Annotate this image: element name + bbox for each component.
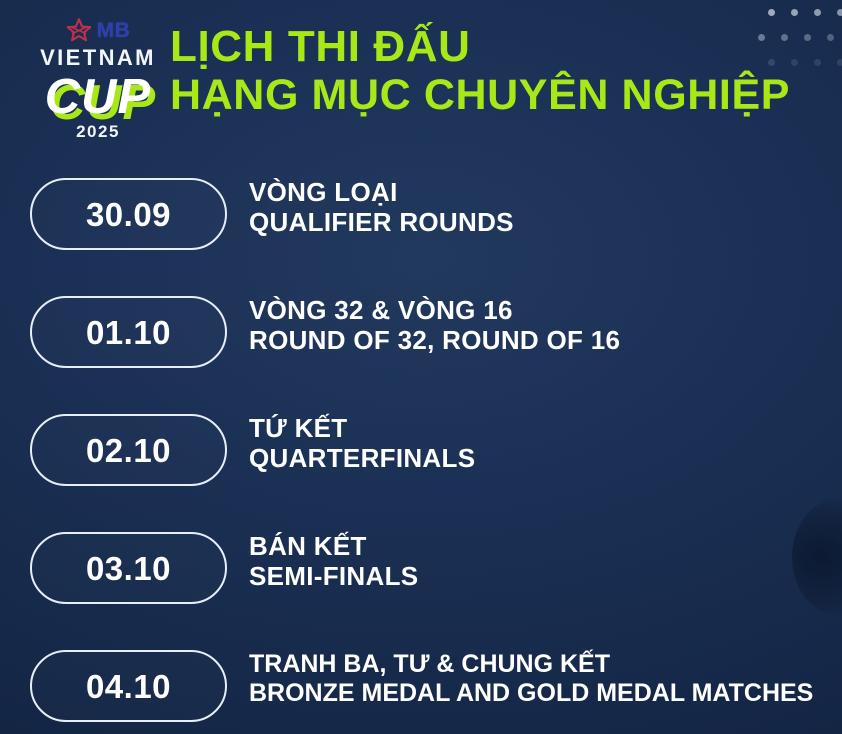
schedule-list: 30.09 VÒNG LOẠI QUALIFIER ROUNDS 01.10 V… <box>0 172 842 734</box>
schedule-row: 30.09 VÒNG LOẠI QUALIFIER ROUNDS <box>0 172 842 290</box>
date-badge-label: 30.09 <box>86 198 171 231</box>
date-badge: 04.10 <box>30 650 227 722</box>
decorative-dot <box>814 9 821 16</box>
logo-brand-row: MB <box>28 16 168 44</box>
stage-labels: TỨ KẾT QUARTERFINALS <box>249 414 829 473</box>
schedule-row: 03.10 BÁN KẾT SEMI-FINALS <box>0 526 842 644</box>
stage-label-en: ROUND OF 32, ROUND OF 16 <box>249 326 829 356</box>
page-title-line-1: LỊCH THI ĐẤU <box>170 22 830 71</box>
stage-labels: VÒNG LOẠI QUALIFIER ROUNDS <box>249 178 829 237</box>
date-badge-label: 04.10 <box>86 670 171 703</box>
decorative-dot <box>837 9 842 16</box>
decorative-dot <box>768 9 775 16</box>
decorative-dot <box>837 59 842 66</box>
schedule-row: 04.10 TRANH BA, TƯ & CHUNG KẾT BRONZE ME… <box>0 644 842 734</box>
decorative-dot <box>791 9 798 16</box>
date-badge: 01.10 <box>30 296 227 368</box>
date-badge-label: 02.10 <box>86 434 171 467</box>
stage-labels: BÁN KẾT SEMI-FINALS <box>249 532 829 591</box>
page-title-line-2: HẠNG MỤC CHUYÊN NGHIỆP <box>170 71 830 119</box>
schedule-row: 02.10 TỨ KẾT QUARTERFINALS <box>0 408 842 526</box>
date-badge: 03.10 <box>30 532 227 604</box>
stage-label-en: SEMI-FINALS <box>249 562 829 592</box>
date-badge: 02.10 <box>30 414 227 486</box>
mb-star-icon <box>66 18 92 43</box>
page-title: LỊCH THI ĐẤU HẠNG MỤC CHUYÊN NGHIỆP <box>170 22 830 119</box>
logo-cup-main: CUP <box>28 70 168 124</box>
schedule-row: 01.10 VÒNG 32 & VÒNG 16 ROUND OF 32, ROU… <box>0 290 842 408</box>
date-badge-label: 03.10 <box>86 552 171 585</box>
mb-bank-name: MB <box>97 20 131 41</box>
logo-country-name: VIETNAM <box>28 46 168 69</box>
stage-label-vi: TRANH BA, TƯ & CHUNG KẾT <box>249 650 829 679</box>
date-badge: 30.09 <box>30 178 227 250</box>
stage-label-en: QUARTERFINALS <box>249 444 829 474</box>
stage-labels: VÒNG 32 & VÒNG 16 ROUND OF 32, ROUND OF … <box>249 296 829 355</box>
mb-vietnam-cup-logo: MB VIETNAM CUP CUP 2025 <box>28 16 168 158</box>
stage-label-vi: BÁN KẾT <box>249 532 829 562</box>
stage-labels: TRANH BA, TƯ & CHUNG KẾT BRONZE MEDAL AN… <box>249 650 829 707</box>
stage-label-en: QUALIFIER ROUNDS <box>249 208 829 238</box>
logo-cup-word: CUP CUP <box>28 70 168 124</box>
stage-label-en: BRONZE MEDAL AND GOLD MEDAL MATCHES <box>249 679 829 708</box>
stage-label-vi: VÒNG 32 & VÒNG 16 <box>249 296 829 326</box>
stage-label-vi: TỨ KẾT <box>249 414 829 444</box>
date-badge-label: 01.10 <box>86 316 171 349</box>
stage-label-vi: VÒNG LOẠI <box>249 178 829 208</box>
tournament-schedule-poster: MB VIETNAM CUP CUP 2025 LỊCH THI ĐẤU HẠN… <box>0 0 842 734</box>
